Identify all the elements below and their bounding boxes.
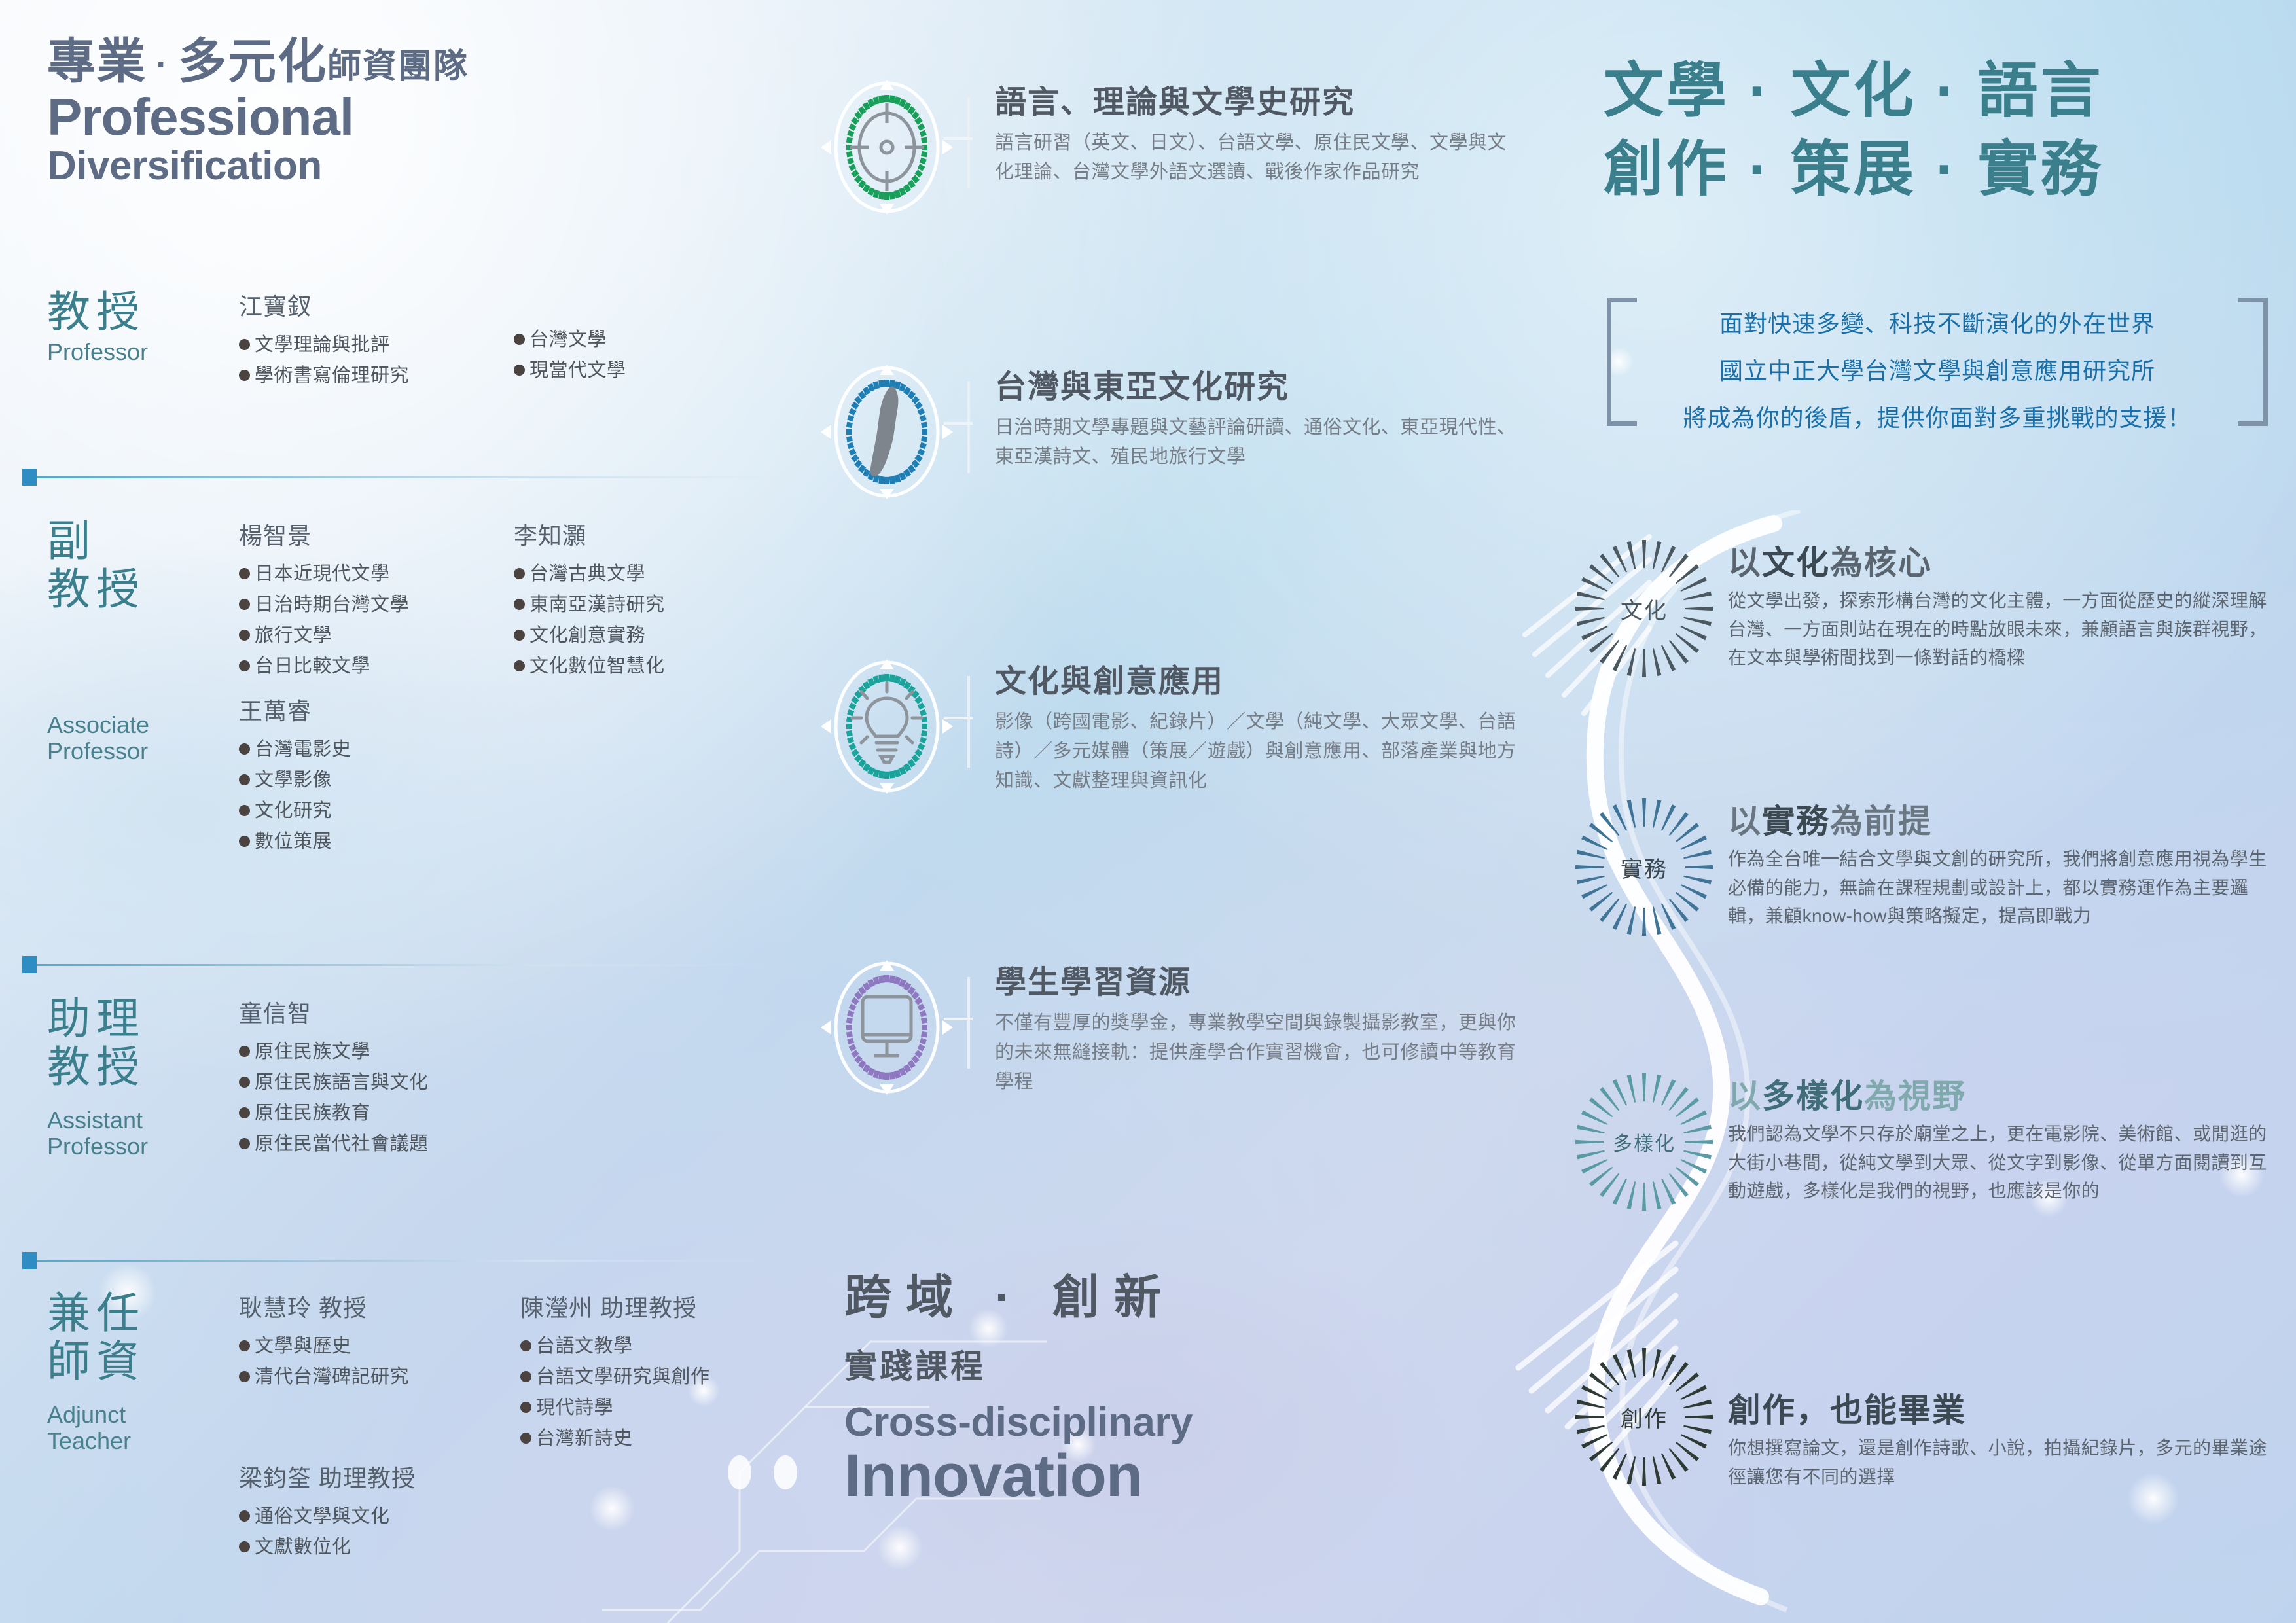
left-header-dot: ·: [147, 45, 178, 84]
pillar-title-pre: 以: [1728, 1078, 1762, 1115]
bullet-icon: [520, 1340, 531, 1351]
right-header: 文學 · 文化 · 語言 創作 · 策展 · 實務: [1604, 52, 2296, 209]
rank-label-assistant-professor: 助理教授 AssistantProfessor: [47, 995, 198, 1160]
specialty-item: 台語文教學: [520, 1331, 802, 1362]
quote-line-2: 國立中正大學台灣文學與創意應用研究所: [1607, 345, 2268, 392]
cross-cjk-title: 跨域 · 創新: [844, 1270, 1532, 1326]
bullet-icon: [239, 1510, 250, 1522]
pillar-title-pre: 以: [1728, 803, 1762, 840]
specialty-label: 文化創意實務: [529, 625, 645, 646]
specialty-item: 原住民族文學: [239, 1037, 579, 1067]
bullet-icon: [239, 339, 250, 350]
quote-line-1: 面對快速多變、科技不斷演化的外在世界: [1607, 298, 2268, 345]
bullet-icon: [239, 1138, 250, 1149]
specialty-label: 原住民族文學: [255, 1041, 370, 1062]
pillar-title: 以多樣化為視野: [1728, 1070, 2284, 1117]
bullet-icon: [239, 743, 250, 755]
bullet-icon: [239, 1541, 250, 1552]
bracket-left: [1607, 298, 1637, 426]
person-name: 童信智: [239, 995, 579, 1029]
feature-separator: [967, 97, 970, 188]
specialty-item: 數位策展: [239, 827, 514, 857]
pillar-badge-label: 創作: [1572, 1345, 1716, 1489]
specialty-item: 文學理論與批評: [239, 330, 514, 361]
quote-box: 面對快速多變、科技不斷演化的外在世界 國立中正大學台灣文學與創意應用研究所 將成…: [1607, 298, 2268, 429]
specialty-item: 日治時期台灣文學: [239, 590, 514, 620]
specialty-item: 台灣新詩史: [520, 1423, 802, 1454]
bracket-right: [2238, 298, 2268, 426]
specialty-item: 現代詩學: [520, 1393, 802, 1423]
cross-en-line2: Innovation: [844, 1446, 1532, 1506]
person-name: 江寶釵: [239, 288, 514, 322]
bullet-icon: [239, 599, 250, 610]
specialty-item: 原住民族教育: [239, 1098, 579, 1129]
bullet-icon: [514, 365, 525, 376]
bullet-icon: [239, 1107, 250, 1118]
cross-cjk-subtitle: 實踐課程: [844, 1340, 1532, 1387]
bullet-icon: [239, 1077, 250, 1088]
rank-block-assistant-professor: 助理教授 AssistantProfessor 童信智 原住民族文學 原住民族語…: [26, 995, 772, 1243]
specialty-label: 清代台灣碑記研究: [255, 1366, 409, 1387]
specialty-item: 台灣文學: [514, 325, 776, 355]
section-divider: [26, 964, 776, 966]
specialty-item: 學術書寫倫理研究: [239, 361, 514, 391]
divider-marker: [22, 956, 37, 973]
bullet-icon: [520, 1402, 531, 1413]
pillar-badge-label: 多樣化: [1572, 1070, 1716, 1214]
feature-arrow: [944, 137, 973, 140]
bullet-icon: [514, 599, 525, 610]
specialty-item: 文化數位智慧化: [514, 651, 789, 682]
specialty-label: 台語文教學: [536, 1336, 633, 1357]
specialty-item: 台日比較文學: [239, 651, 514, 682]
person-name: 王萬睿: [239, 692, 514, 726]
bullet-icon: [514, 630, 525, 641]
left-header-en-line1: Professional: [47, 90, 754, 145]
pillar-description: 作為全台唯一結合文學與文創的研究所，我們將創意應用視為學生必備的能力，無論在課程…: [1728, 845, 2284, 931]
bullet-icon: [239, 805, 250, 816]
feature-text: 文化與創意應用 影像（跨國電影、紀錄片）／文學（純文學、大眾文學、台語詩）／多元…: [995, 655, 1518, 796]
rank-block-professor: 教授 Professor 江寶釵 文學理論與批評 學術書寫倫理研究 台灣文學 現…: [26, 288, 772, 484]
feature-description: 影像（跨國電影、紀錄片）／文學（純文學、大眾文學、台語詩）／多元媒體（策展／遊戲…: [995, 707, 1518, 796]
pillar-title-key: 創作，也能畢業: [1728, 1392, 1966, 1429]
specialty-item: 日本近現代文學: [239, 559, 514, 590]
pillar-description: 你想撰寫論文，還是創作詩歌、小說，拍攝紀錄片，多元的畢業途徑讓您有不同的選擇: [1728, 1434, 2284, 1491]
specialty-label: 原住民族教育: [255, 1103, 370, 1124]
rank-cjk-assistant: 助理教授: [47, 995, 198, 1092]
divider-marker: [22, 1252, 37, 1269]
feature-arrow: [944, 717, 973, 719]
pillar-description: 我們認為文學不只存於廟堂之上，更在電影院、美術館、或閒逛的大街小巷間，從純文學到…: [1728, 1120, 2284, 1205]
specialty-item: 文化研究: [239, 796, 514, 827]
person-adjunct-1: 陳瀅州 助理教授 台語文教學 台語文學研究與創作 現代詩學 台灣新詩史: [520, 1289, 802, 1454]
specialty-label: 通俗文學與文化: [255, 1506, 390, 1527]
pillar-title-pre: 以: [1728, 544, 1762, 581]
pillar-title: 以文化為核心: [1728, 537, 2284, 584]
pillar-description: 從文學出發，探索形構台灣的文化主體，一方面從歷史的縱深理解台灣、一方面則站在現在…: [1728, 586, 2284, 672]
rank-en-associate: AssociateProfessor: [47, 712, 198, 765]
taiwan-map-icon: [812, 357, 962, 507]
person-assistant-0: 童信智 原住民族文學 原住民族語言與文化 原住民族教育 原住民當代社會議題: [239, 995, 579, 1160]
pillar-title-key: 實務: [1762, 803, 1830, 840]
pillar-title: 以實務為前提: [1728, 795, 2284, 842]
specialty-item: 文學與歷史: [239, 1331, 520, 1362]
rank-block-associate-professor: 副教授 AssociateProfessor 楊智景 日本近現代文學 日治時期台…: [26, 517, 772, 936]
specialty-label: 日治時期台灣文學: [255, 594, 409, 615]
feature-separator: [967, 676, 970, 768]
feature-arrow: [944, 422, 973, 425]
rank-label-adjunct-teacher: 兼任師資 AdjunctTeacher: [47, 1289, 198, 1454]
cross-en-line1: Cross-disciplinary: [844, 1399, 1532, 1446]
specialty-item: 文獻數位化: [239, 1532, 520, 1563]
specialty-item: 現當代文學: [514, 355, 776, 386]
specialty-label: 文學影像: [255, 770, 332, 791]
specialty-item: 台語文學研究與創作: [520, 1362, 802, 1393]
feature-separator: [967, 382, 970, 473]
pillar-text: 以文化為核心 從文學出發，探索形構台灣的文化主體，一方面從歷史的縱深理解台灣、一…: [1728, 537, 2284, 672]
specialty-item: 文學影像: [239, 765, 514, 796]
specialty-label: 台灣文學: [529, 329, 607, 350]
bullet-icon: [239, 1340, 250, 1351]
specialty-label: 文學與歷史: [255, 1336, 351, 1357]
person-associate-0: 楊智景 日本近現代文學 日治時期台灣文學 旅行文學 台日比較文學: [239, 517, 514, 682]
left-header-cjk-second: 多元化: [178, 34, 327, 88]
right-header-line1: 文學 · 文化 · 語言: [1604, 52, 2296, 131]
person-name: 李知灝: [514, 517, 789, 551]
feature-text: 語言、理論與文學史研究 語言研習（英文、日文）、台語文學、原住民文學、文學與文化…: [995, 76, 1518, 187]
rank-cjk-associate: 副教授: [47, 517, 198, 614]
specialty-item: 清代台灣碑記研究: [239, 1362, 520, 1393]
specialty-label: 現代詩學: [536, 1397, 613, 1418]
feature-description: 不僅有豐厚的獎學金，專業教學空間與錄製攝影教室，更與你的未來無縫接軌：提供產學合…: [995, 1008, 1518, 1097]
pillar-text: 以多樣化為視野 我們認為文學不只存於廟堂之上，更在電影院、美術館、或閒逛的大街小…: [1728, 1070, 2284, 1205]
feature-description: 語言研習（英文、日文）、台語文學、原住民文學、文學與文化理論、台灣文學外語文選讀…: [995, 128, 1518, 187]
monitor-icon: [812, 952, 962, 1103]
specialty-label: 旅行文學: [255, 625, 332, 646]
bullet-icon: [239, 568, 250, 579]
rank-cjk-adjunct: 兼任師資: [47, 1289, 198, 1386]
person-name: 耿慧玲 教授: [239, 1289, 520, 1323]
target-icon: [812, 72, 962, 223]
person-name: 楊智景: [239, 517, 514, 551]
specialty-item: 旅行文學: [239, 620, 514, 651]
specialty-item: 東南亞漢詩研究: [514, 590, 789, 620]
left-header-cjk-main: 專業: [47, 34, 147, 88]
specialty-label: 台灣電影史: [255, 739, 351, 760]
bullet-icon: [239, 630, 250, 641]
pillar-title-post: 為核心: [1830, 544, 1932, 581]
bullet-icon: [239, 370, 250, 381]
specialty-label: 數位策展: [255, 831, 332, 852]
specialty-label: 台日比較文學: [255, 656, 370, 677]
person-associate-1: 李知灝 台灣古典文學 東南亞漢詩研究 文化創意實務 文化數位智慧化: [514, 517, 789, 682]
pillar-title-post: 為前提: [1830, 803, 1932, 840]
left-header: 專業·多元化師資團隊 Professional Diversification: [47, 36, 754, 188]
specialty-item: 台灣電影史: [239, 734, 514, 765]
person-name: 梁鈞筌 助理教授: [239, 1459, 520, 1493]
pillar-title-key: 多樣化: [1762, 1078, 1864, 1115]
specialty-item: 台灣古典文學: [514, 559, 789, 590]
radial-burst-icon-culture: 文化: [1572, 537, 1716, 681]
cross-disciplinary-block: 跨域 · 創新 實踐課程 Cross-disciplinary Innovati…: [844, 1270, 1532, 1506]
rank-en-assistant: AssistantProfessor: [47, 1107, 198, 1160]
feature-description: 日治時期文學專題與文藝評論研讀、通俗文化、東亞現代性、東亞漢詩文、殖民地旅行文學: [995, 413, 1518, 472]
bullet-icon: [520, 1433, 531, 1444]
bullet-icon: [239, 660, 250, 671]
bullet-icon: [514, 568, 525, 579]
pillar-title: 創作，也能畢業: [1728, 1384, 2284, 1431]
specialty-label: 學術書寫倫理研究: [255, 365, 409, 386]
specialty-item: 原住民族語言與文化: [239, 1067, 579, 1098]
section-divider: [26, 1260, 776, 1262]
left-header-cjk-small: 師資團隊: [327, 48, 469, 86]
feature-title: 學生學習資源: [995, 956, 1518, 1002]
feature-text: 台灣與東亞文化研究 日治時期文學專題與文藝評論研讀、通俗文化、東亞現代性、東亞漢…: [995, 361, 1518, 472]
person-associate-2: 王萬睿 台灣電影史 文學影像 文化研究 數位策展: [239, 692, 514, 857]
specialty-label: 文學理論與批評: [255, 334, 390, 355]
person-name: 陳瀅州 助理教授: [520, 1289, 802, 1323]
feature-text: 學生學習資源 不僅有豐厚的獎學金，專業教學空間與錄製攝影教室，更與你的未來無縫接…: [995, 956, 1518, 1097]
quote-line-3: 將成為你的後盾，提供你面對多重挑戰的支援！: [1607, 392, 2268, 439]
pillar-title-key: 文化: [1762, 544, 1830, 581]
feature-arrow: [944, 1018, 973, 1020]
feature-title: 台灣與東亞文化研究: [995, 361, 1518, 406]
specialty-label: 原住民族語言與文化: [255, 1072, 429, 1093]
pillar-title-post: 為視野: [1864, 1078, 1966, 1115]
divider-marker: [22, 469, 37, 486]
left-header-cjk: 專業·多元化師資團隊: [47, 36, 754, 87]
specialty-label: 文化研究: [255, 800, 332, 821]
feature-title: 語言、理論與文學史研究: [995, 76, 1518, 122]
left-header-en-line2: Diversification: [47, 145, 754, 188]
rank-cjk-professor: 教授: [47, 288, 198, 336]
bullet-icon: [514, 334, 525, 345]
right-header-line2: 創作 · 策展 · 實務: [1604, 131, 2296, 209]
section-divider: [26, 476, 776, 478]
specialty-label: 文化數位智慧化: [529, 656, 665, 677]
rank-block-adjunct-teacher: 兼任師資 AdjunctTeacher 耿慧玲 教授 文學與歷史 清代台灣碑記研…: [26, 1289, 772, 1603]
specialty-label: 台語文學研究與創作: [536, 1366, 710, 1387]
specialty-item: 原住民當代社會議題: [239, 1129, 579, 1160]
person-professor-0: 江寶釵 文學理論與批評 學術書寫倫理研究: [239, 288, 514, 391]
bullet-icon: [520, 1371, 531, 1382]
feature-separator: [967, 977, 970, 1069]
bullet-icon: [239, 774, 250, 785]
specialty-label: 原住民當代社會議題: [255, 1133, 429, 1154]
radial-burst-icon-diversity: 多樣化: [1572, 1070, 1716, 1214]
bullet-icon: [239, 1046, 250, 1057]
bullet-icon: [239, 836, 250, 847]
bullet-icon: [514, 660, 525, 671]
specialty-item: 通俗文學與文化: [239, 1501, 520, 1532]
radial-burst-icon-practice: 實務: [1572, 795, 1716, 939]
specialty-label: 東南亞漢詩研究: [529, 594, 665, 615]
pillar-text: 創作，也能畢業 你想撰寫論文，還是創作詩歌、小說，拍攝紀錄片，多元的畢業途徑讓您…: [1728, 1384, 2284, 1491]
faculty-panel: 專業·多元化師資團隊 Professional Diversification …: [0, 0, 779, 1623]
vision-panel: 文學 · 文化 · 語言 創作 · 策展 · 實務 面對快速多變、科技不斷演化的…: [1558, 0, 2296, 1623]
specialty-label: 文獻數位化: [255, 1537, 351, 1558]
radial-burst-icon-creation: 創作: [1572, 1345, 1716, 1489]
specialty-label: 台灣新詩史: [536, 1428, 633, 1449]
rank-label-professor: 教授 Professor: [47, 288, 198, 365]
rank-en-adjunct: AdjunctTeacher: [47, 1402, 198, 1455]
rank-en-professor: Professor: [47, 339, 198, 365]
lightbulb-icon: [812, 651, 962, 802]
specialty-label: 日本近現代文學: [255, 563, 390, 584]
person-adjunct-2: 梁鈞筌 助理教授 通俗文學與文化 文獻數位化: [239, 1459, 520, 1563]
rank-label-associate-professor: 副教授 AssociateProfessor: [47, 517, 198, 764]
specialty-item: 文化創意實務: [514, 620, 789, 651]
feature-title: 文化與創意應用: [995, 655, 1518, 701]
person-adjunct-0: 耿慧玲 教授 文學與歷史 清代台灣碑記研究: [239, 1289, 520, 1393]
person-professor-0-col2: 台灣文學 現當代文學: [514, 325, 776, 386]
taiwan-shape: [870, 387, 899, 477]
specialty-label: 現當代文學: [529, 360, 626, 381]
pillar-badge-label: 實務: [1572, 795, 1716, 939]
bullet-icon: [239, 1371, 250, 1382]
pillar-badge-label: 文化: [1572, 537, 1716, 681]
specialty-label: 台灣古典文學: [529, 563, 645, 584]
pillar-text: 以實務為前提 作為全台唯一結合文學與文創的研究所，我們將創意應用視為學生必備的能…: [1728, 795, 2284, 931]
